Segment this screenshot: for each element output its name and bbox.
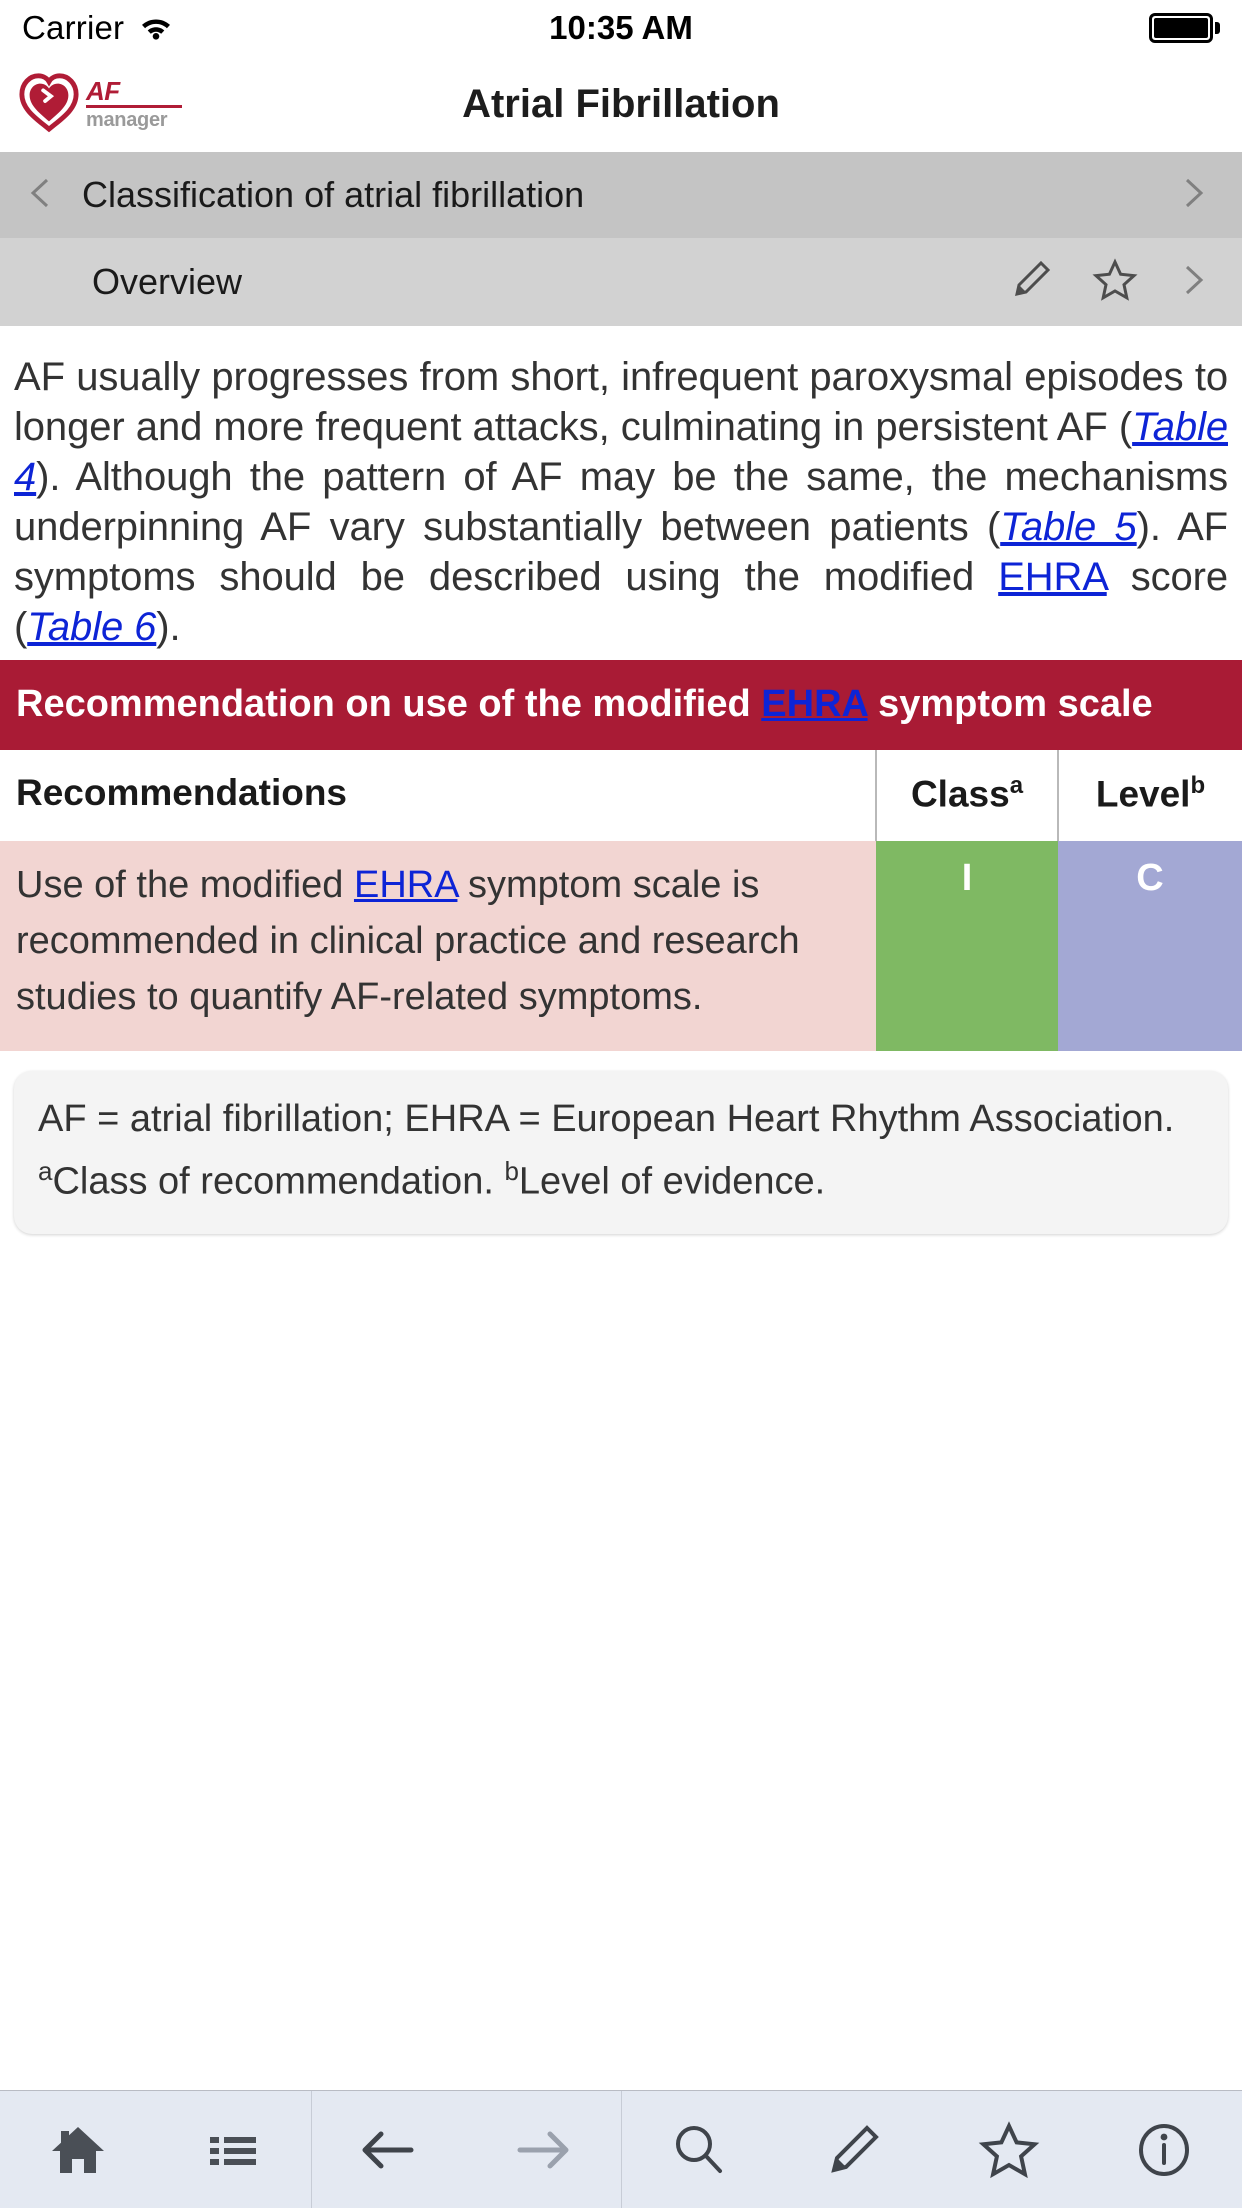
cell-level-value: C [1058,841,1242,1051]
link-table-6[interactable]: Table 6 [27,605,156,649]
app-logo-wordmark: AF manager [86,78,182,130]
footnote-superscript-a: a [38,1156,52,1186]
app-logo: AF manager [18,71,182,138]
column-header-level: Levelb [1058,750,1242,841]
bottom-toolbar [0,2090,1242,2208]
column-header-class-label: Class [911,773,1010,814]
paragraph-text-1: AF usually progresses from short, infreq… [14,355,1228,449]
cell-recommendation-text: Use of the modified EHRA symptom scale i… [0,841,876,1051]
paragraph-text-5: ). [156,605,180,649]
breadcrumb-label: Classification of atrial fibrillation [82,174,584,216]
footnote-line-2: Class of recommendation. [52,1161,504,1203]
column-header-class-superscript: a [1010,772,1023,799]
table-row: Use of the modified EHRA symptom scale i… [0,841,1242,1051]
logo-manager-text: manager [86,110,182,130]
home-icon[interactable] [0,2091,155,2208]
chevron-right-icon[interactable] [1176,263,1210,302]
chevron-right-icon[interactable] [1176,176,1210,215]
link-table-5[interactable]: Table 5 [1000,505,1136,549]
breadcrumb-actions [1008,257,1218,308]
star-icon[interactable] [1092,257,1138,308]
recommendation-header: Recommendation on use of the modified EH… [0,660,1242,750]
column-header-level-label: Level [1096,773,1191,814]
app-header: AF manager Atrial Fibrillation [0,56,1242,152]
arrow-right-icon[interactable] [466,2091,621,2208]
pencil-icon[interactable] [1008,257,1054,308]
recommendation-text-1: Use of the modified [16,864,354,906]
star-icon[interactable] [932,2091,1087,2208]
footnote-line-3: Level of evidence. [519,1161,825,1203]
breadcrumb-label: Overview [92,261,242,303]
breadcrumb-overview[interactable]: Overview [0,238,1242,326]
recommendation-header-text-2: symptom scale [868,683,1153,725]
logo-af-text: AF [86,78,182,104]
cell-class-value: I [876,841,1058,1051]
link-ehra[interactable]: EHRA [998,555,1107,599]
list-icon[interactable] [155,2091,310,2208]
footnote-box: AF = atrial fibrillation; EHRA = Europea… [14,1071,1228,1234]
clock-label: 10:35 AM [0,9,1242,47]
breadcrumb-actions [1176,176,1218,215]
column-header-class: Classa [876,750,1058,841]
column-header-recommendations: Recommendations [0,750,876,841]
info-icon[interactable] [1087,2091,1242,2208]
recommendation-header-text-1: Recommendation on use of the modified [16,683,761,725]
link-ehra[interactable]: EHRA [761,683,867,725]
arrow-left-icon[interactable] [311,2091,466,2208]
status-bar: Carrier 10:35 AM [0,0,1242,56]
chevron-left-icon[interactable] [24,176,58,215]
search-icon[interactable] [621,2091,776,2208]
breadcrumb-classification[interactable]: Classification of atrial fibrillation [0,152,1242,238]
logo-divider [86,105,182,108]
battery-full-icon [1149,13,1220,43]
page-title: Atrial Fibrillation [0,82,1242,127]
column-header-level-superscript: b [1190,772,1205,799]
link-ehra[interactable]: EHRA [354,864,457,906]
table-header-row: Recommendations Classa Levelb [0,750,1242,841]
body-paragraph: AF usually progresses from short, infreq… [0,326,1242,660]
recommendation-table: Recommendations Classa Levelb Use of the… [0,750,1242,1051]
app-screen: Carrier 10:35 AM [0,0,1242,2208]
footnote-line-1: AF = atrial fibrillation; EHRA = Europea… [38,1098,1174,1140]
footnote-superscript-b: b [504,1156,518,1186]
content-area: AF usually progresses from short, infreq… [0,326,1242,2090]
heart-logo-icon [18,71,80,138]
pencil-icon[interactable] [776,2091,931,2208]
